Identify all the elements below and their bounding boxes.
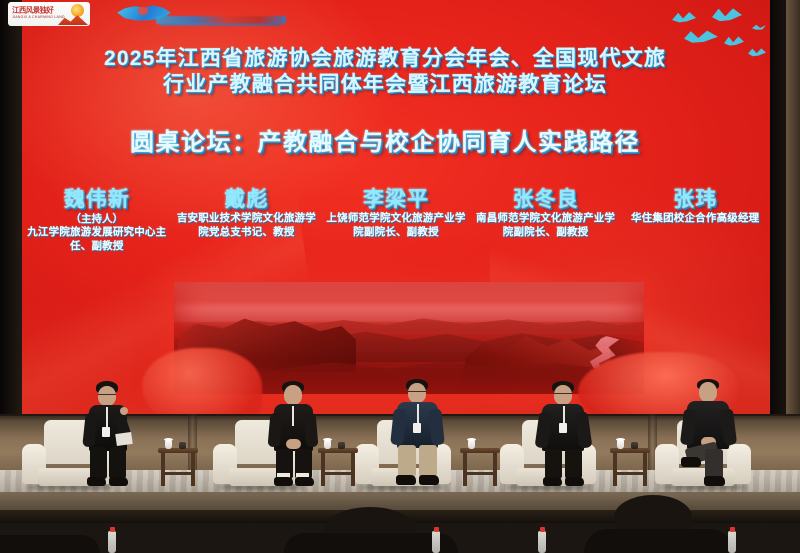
lanyard (417, 404, 419, 424)
name-badge (102, 427, 110, 437)
panelist-name: 戴彪 (175, 188, 319, 212)
seated-panelist (672, 379, 746, 491)
table-rail (463, 472, 497, 475)
leg (545, 449, 562, 479)
panelist-name: 张玮 (623, 188, 767, 212)
table-leg (493, 453, 497, 486)
hand (120, 407, 128, 415)
leg-khaki (398, 445, 416, 477)
shoe (295, 477, 314, 486)
lanyard (563, 406, 565, 424)
shoe (565, 477, 584, 486)
shoe (109, 477, 128, 486)
panelist-affiliation: 上饶师范学院文化旅游产业学院副院长、副教授 (324, 212, 468, 239)
panelist-card: 李梁平 上饶师范学院文化旅游产业学院副院长、副教授 (321, 188, 471, 239)
glasses-icon (408, 391, 426, 395)
seated-panelist (382, 379, 452, 491)
panelist-card: 魏伟新 （主持人） 九江学院旅游发展研究中心主任、副教授 (22, 188, 172, 253)
panelist-list: 魏伟新 （主持人） 九江学院旅游发展研究中心主任、副教授 戴彪 吉安职业技术学院… (22, 188, 770, 274)
emblem-accent-icon (138, 7, 148, 15)
arm (428, 408, 445, 445)
shoe (87, 477, 106, 486)
panelist-name: 张冬良 (474, 188, 618, 212)
panelist-affiliation: 九江学院旅游发展研究中心主任、副教授 (25, 226, 169, 253)
lanyard (292, 406, 294, 426)
conference-photo-scene: 江西风景独好 JIANGXI A CHARMING LAND 2025年江西省旅… (0, 0, 800, 553)
led-bezel-right (770, 0, 786, 424)
shoe (274, 477, 293, 486)
head (284, 385, 302, 405)
panelist-affiliation: 南昌师范学院文化旅游产业学院副院长、副教授 (474, 212, 618, 239)
hands-clasped (286, 439, 301, 449)
panelist-name: 李梁平 (324, 188, 468, 212)
jiangxi-tourism-brand-logo: 江西风景独好 JIANGXI A CHARMING LAND (8, 2, 90, 26)
panelist-affiliation: 华住集团校企合作高级经理 (623, 212, 767, 226)
table-leg (463, 453, 467, 486)
table-leg (191, 453, 195, 486)
arm (304, 413, 319, 448)
tea-cup (617, 440, 624, 449)
table-leg (643, 453, 647, 486)
head (699, 382, 717, 402)
lanyard (106, 407, 108, 429)
water-bottle (108, 531, 116, 553)
table-leg (351, 453, 355, 486)
shoe (419, 475, 439, 485)
tea-cup-dark (179, 442, 186, 449)
event-headline: 2025年江西省旅游协会旅游教育分会年会、全国现代文旅 行业产教融合共同体年会暨… (0, 46, 770, 98)
tea-cup (165, 440, 172, 449)
tea-cup-dark (338, 442, 345, 449)
leg (90, 447, 107, 479)
shoe (704, 476, 725, 486)
session-subheadline: 圆桌论坛：产教融合与校企协同育人实践路径 (0, 128, 770, 158)
panelist-card: 张冬良 南昌师范学院文化旅游产业学院副院长、副教授 (471, 188, 621, 239)
side-table (610, 448, 650, 488)
seated-panelist (72, 381, 142, 491)
name-badge (413, 423, 421, 433)
tea-cup-dark (631, 442, 638, 449)
table-leg (613, 453, 617, 486)
leg (109, 447, 126, 479)
leg-khaki (419, 445, 437, 477)
water-bottle (538, 531, 546, 553)
emblem-caption-bar-secondary (160, 23, 280, 26)
headline-line-1: 2025年江西省旅游协会旅游教育分会年会、全国现代文旅 (104, 47, 666, 70)
side-table (158, 448, 198, 488)
panelist-card: 戴彪 吉安职业技术学院文化旅游学院党总支书记、教授 (172, 188, 322, 239)
shoe (543, 477, 562, 486)
name-badge (559, 423, 567, 433)
seated-panelist (528, 381, 598, 491)
side-table (460, 448, 500, 488)
shoe (681, 457, 701, 467)
audience-shoulders (0, 535, 100, 553)
water-bottle (728, 531, 736, 553)
paper-sheet (115, 432, 133, 446)
leg (565, 449, 582, 479)
table-rail (613, 472, 647, 475)
panelist-role: （主持人） (25, 213, 169, 226)
table-leg (161, 453, 165, 486)
screen-blob-left (142, 348, 262, 418)
shoe (396, 475, 416, 485)
water-bottle (432, 531, 440, 553)
panelist-affiliation: 吉安职业技术学院文化旅游学院党总支书记、教授 (175, 212, 319, 239)
forum-emblem (116, 1, 174, 27)
table-rail (161, 472, 195, 475)
panelist-card: 张玮 华住集团校企合作高级经理 (620, 188, 770, 226)
wall-edge-right (786, 0, 800, 424)
glasses-icon (98, 394, 116, 398)
tea-cup (468, 440, 475, 449)
brand-logo-subtext: JIANGXI A CHARMING LAND (12, 15, 65, 19)
brand-logo-text: 江西风景独好 (12, 5, 53, 15)
audience-shoulders (584, 529, 734, 553)
sun-icon (71, 4, 84, 17)
seated-panelist (258, 381, 328, 491)
glasses-icon (554, 393, 572, 397)
panelist-name: 魏伟新 (25, 188, 169, 212)
leg (705, 449, 723, 479)
headline-line-2: 行业产教融合共同体年会暨江西旅游教育论坛 (0, 72, 770, 98)
